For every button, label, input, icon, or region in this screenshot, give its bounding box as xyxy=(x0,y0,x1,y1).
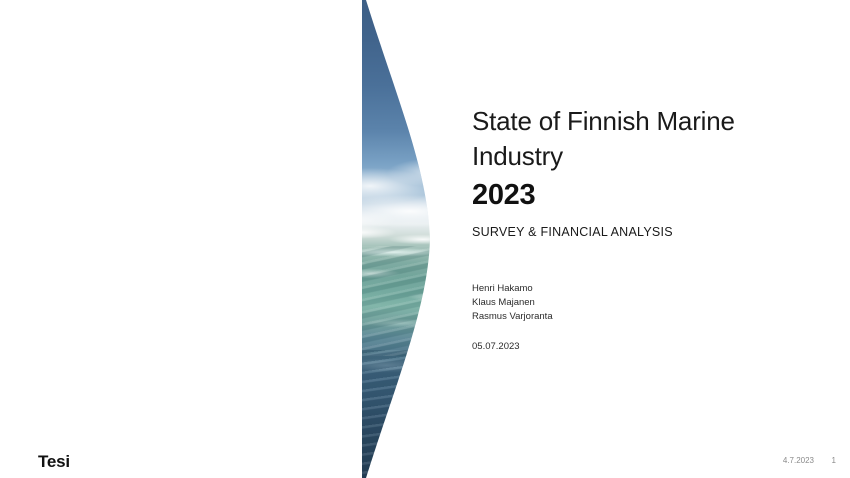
footer-date: 4.7.2023 xyxy=(783,456,814,465)
page-subtitle: SURVEY & FINANCIAL ANALYSIS xyxy=(472,225,673,239)
page-title-line-1: State of Finnish Marine xyxy=(472,104,802,139)
title-block: State of Finnish Marine Industry 2023 xyxy=(472,104,802,214)
ocean-photo-image xyxy=(362,0,434,478)
footer-page-number: 1 xyxy=(830,456,836,465)
author-name: Rasmus Varjoranta xyxy=(472,310,553,324)
presentation-slide: State of Finnish Marine Industry 2023 SU… xyxy=(0,0,850,478)
left-blank-panel xyxy=(0,0,362,478)
photo-layer-deep-water xyxy=(362,350,434,478)
ocean-photo xyxy=(362,0,434,478)
author-name: Henri Hakamo xyxy=(472,282,553,296)
slide-footer: 4.7.2023 1 xyxy=(783,456,836,465)
page-title-year: 2023 xyxy=(472,176,802,214)
content-column: State of Finnish Marine Industry 2023 SU… xyxy=(472,0,812,478)
brand-logo: Tesi xyxy=(38,452,70,472)
page-title-line-2: Industry xyxy=(472,139,802,174)
author-name: Klaus Majanen xyxy=(472,296,553,310)
author-list: Henri Hakamo Klaus Majanen Rasmus Varjor… xyxy=(472,282,553,324)
photo-layer-waves xyxy=(362,246,434,356)
presentation-date: 05.07.2023 xyxy=(472,341,520,352)
